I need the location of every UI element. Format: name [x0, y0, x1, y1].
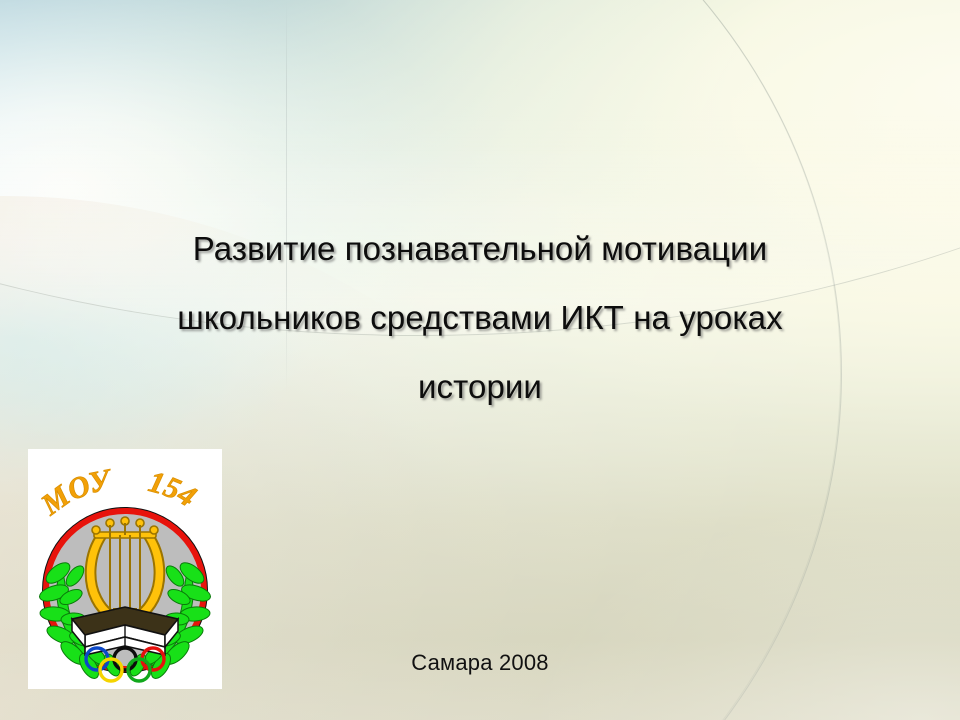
slide-footer-location-year: Самара 2008	[0, 650, 960, 676]
title-line-2: школьников средствами ИКТ на уроках	[70, 283, 890, 352]
slide-title: Развитие познавательной мотивации школьн…	[70, 214, 890, 421]
title-line-1: Развитие познавательной мотивации	[70, 214, 890, 283]
presentation-slide: Развитие познавательной мотивации школьн…	[0, 0, 960, 720]
title-line-3: истории	[70, 352, 890, 421]
